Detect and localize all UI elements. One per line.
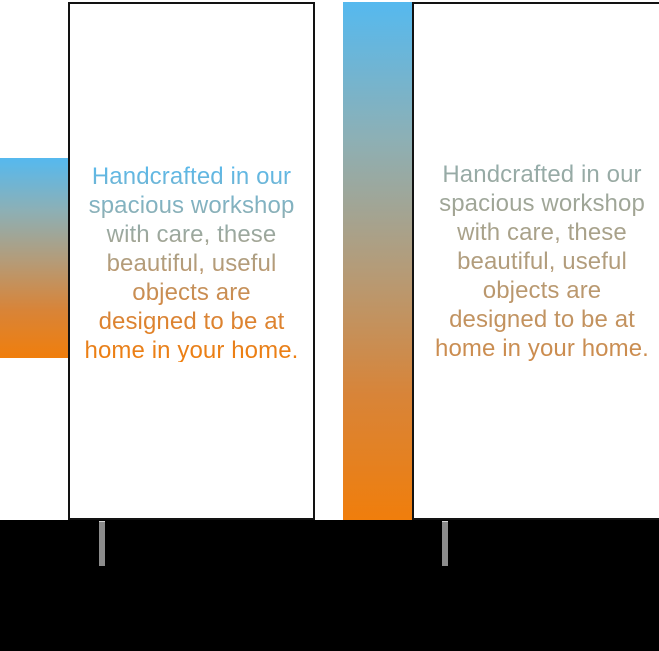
blurb-line: Handcrafted in our [72, 162, 311, 191]
stage: Handcrafted in our spacious workshop wit… [0, 0, 659, 651]
left-gradient-swatch [0, 158, 68, 358]
blurb-line: with care, these [416, 218, 659, 247]
right-panel: Handcrafted in our spacious workshop wit… [412, 2, 659, 520]
blurb-line: designed to be at [72, 307, 311, 336]
blurb-line: home in your home. [72, 336, 311, 365]
blurb-line: spacious workshop [72, 191, 311, 220]
blurb-line: with care, these [72, 220, 311, 249]
right-panel-blurb: Handcrafted in our spacious workshop wit… [414, 160, 659, 363]
right-gradient-swatch [343, 2, 412, 520]
left-panel-blurb: Handcrafted in our spacious workshop wit… [70, 162, 313, 365]
blurb-line: designed to be at [416, 305, 659, 334]
blurb-line: beautiful, useful [416, 247, 659, 276]
left-panel: Handcrafted in our spacious workshop wit… [68, 2, 315, 520]
blurb-line: spacious workshop [416, 189, 659, 218]
blurb-line: home in your home. [416, 334, 659, 363]
scroll-handle-right[interactable] [442, 521, 448, 566]
blurb-line: Handcrafted in our [416, 160, 659, 189]
blurb-line: beautiful, useful [72, 249, 311, 278]
blurb-line: objects are [72, 278, 311, 307]
blurb-line: objects are [416, 276, 659, 305]
scroll-handle-left[interactable] [99, 521, 105, 566]
